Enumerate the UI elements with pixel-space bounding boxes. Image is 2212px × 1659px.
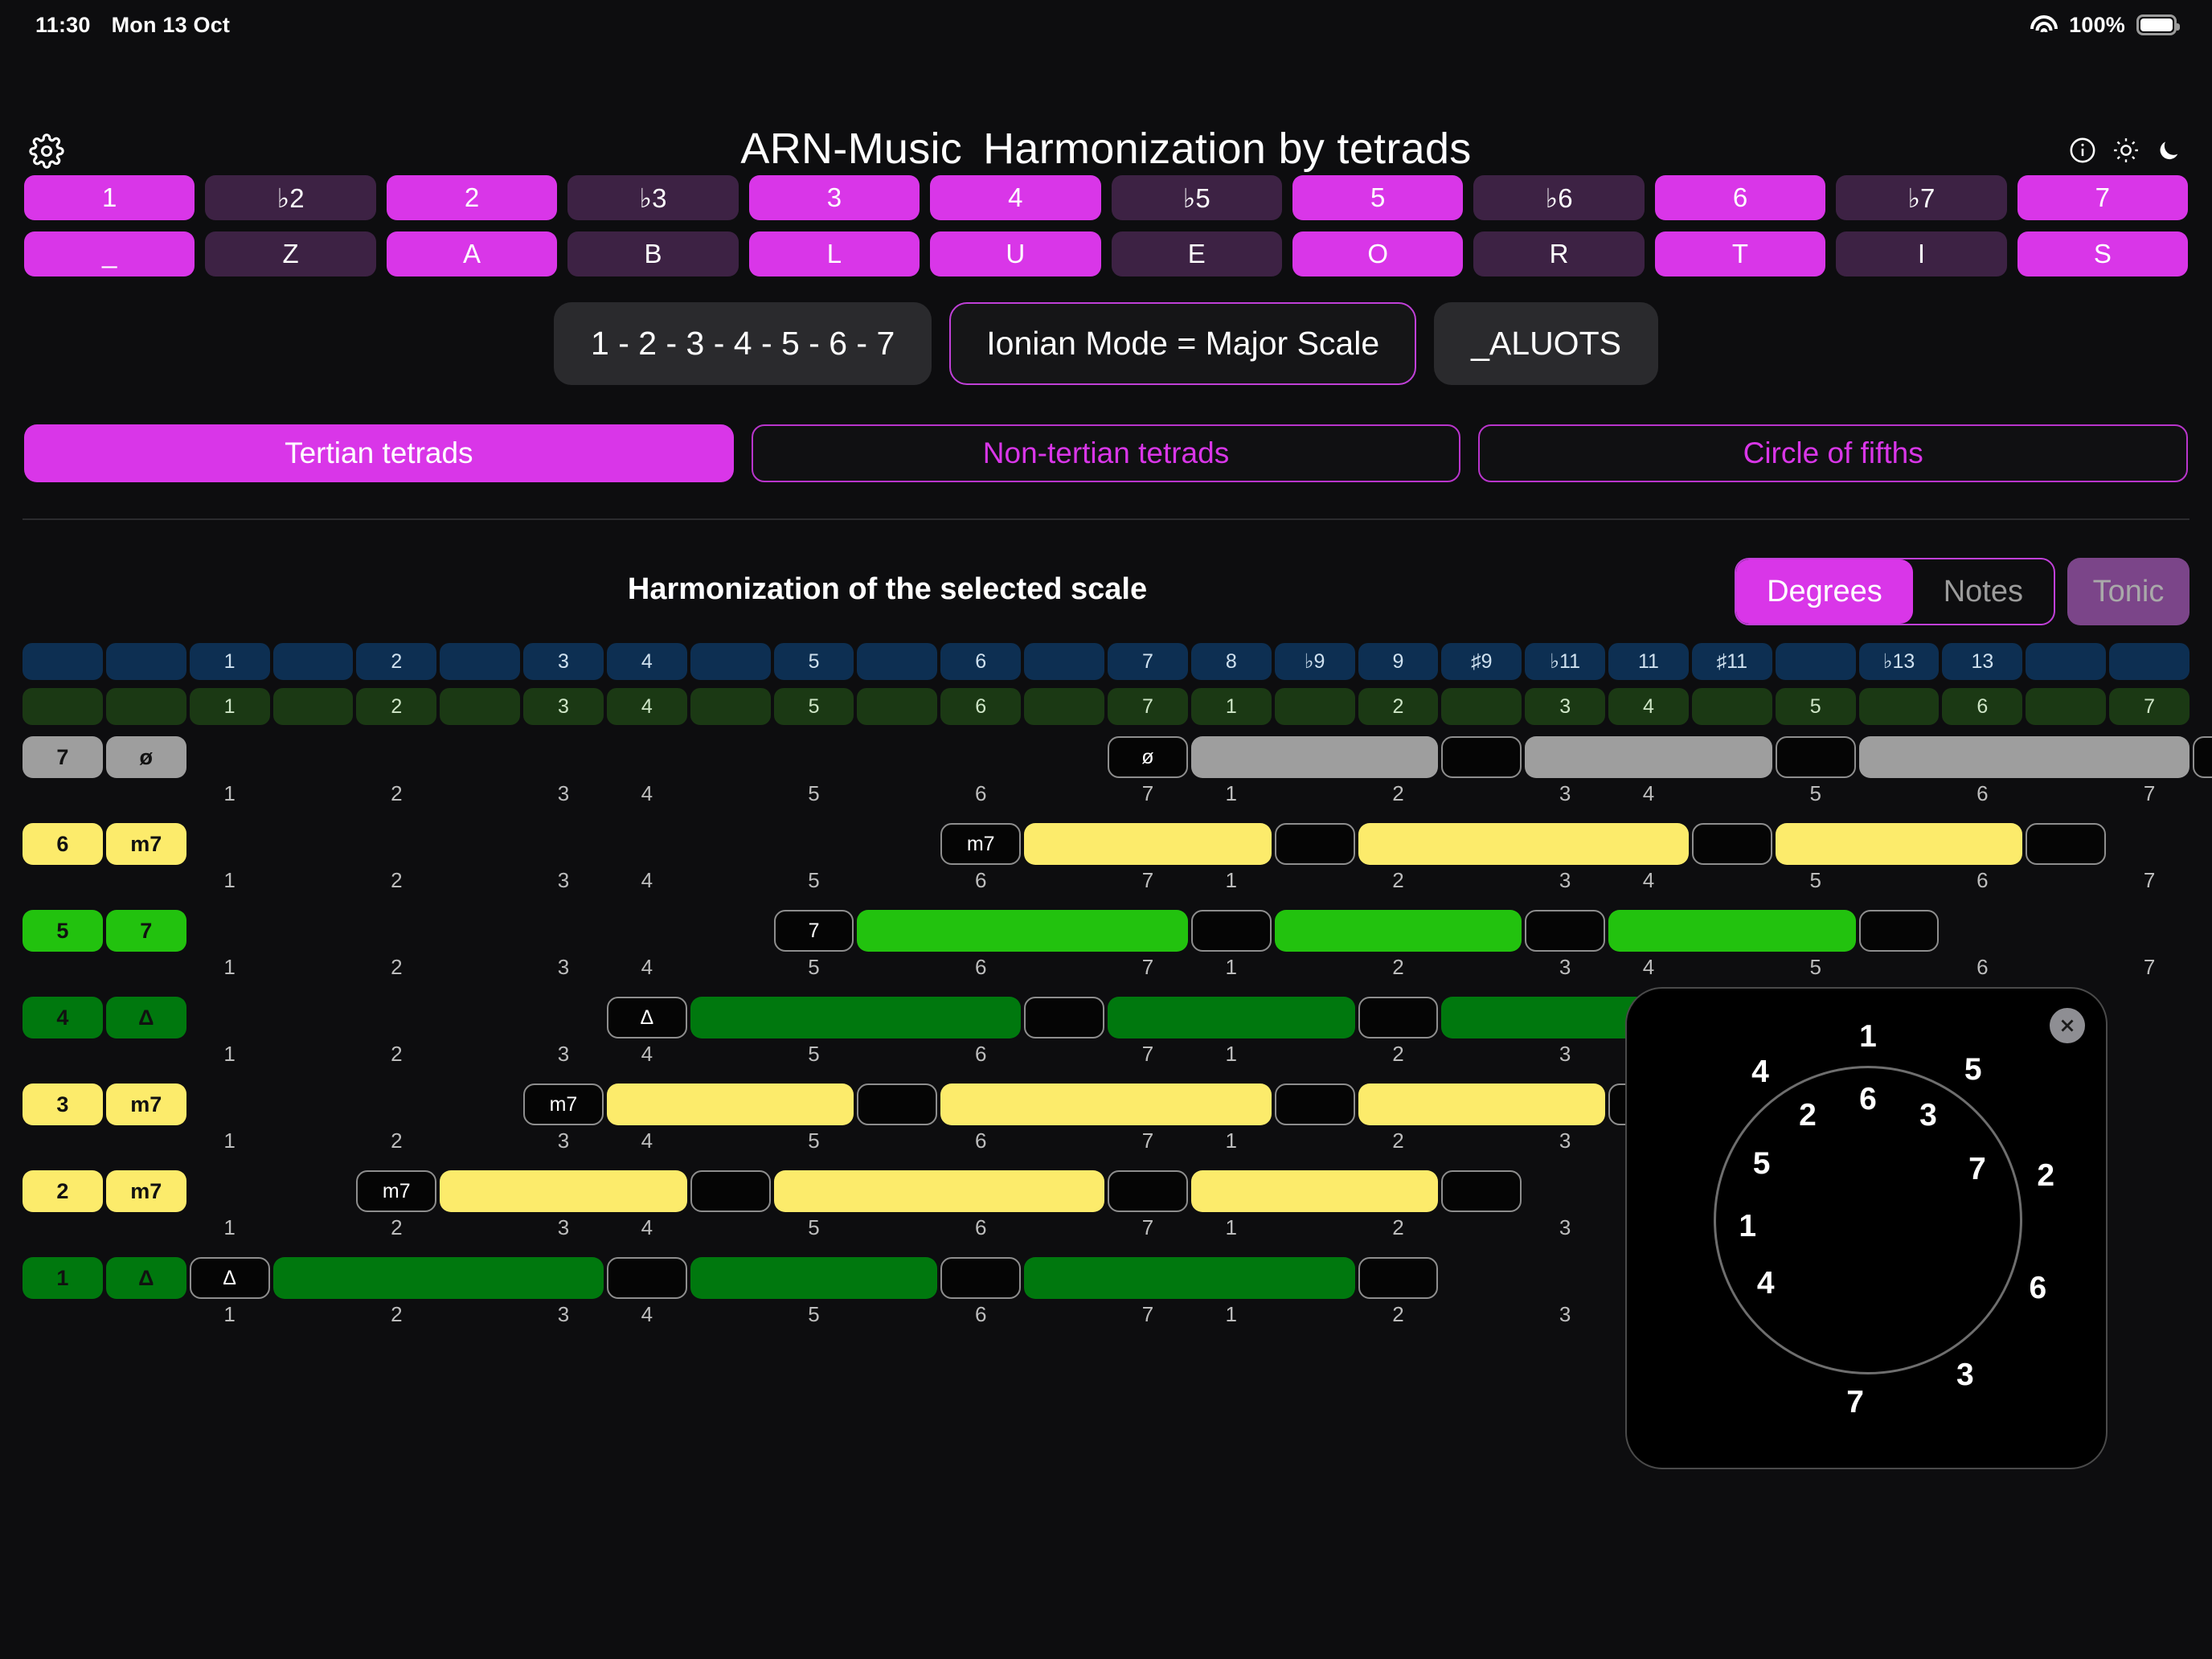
chord-number: 5 — [808, 955, 819, 980]
chord-number: 4 — [1643, 955, 1654, 980]
circle-inner-label[interactable]: 1 — [1739, 1209, 1756, 1244]
degree-pill-3[interactable]: ♭3 — [567, 175, 738, 220]
circle-inner-label[interactable]: 7 — [1968, 1152, 1986, 1187]
chord-interval-bar[interactable] — [1358, 1083, 1606, 1125]
chord-number: 4 — [641, 1042, 653, 1067]
display-mode-degrees[interactable]: Degrees — [1736, 559, 1913, 624]
chord-number: 2 — [391, 781, 402, 806]
letter-pill-label: _ — [102, 239, 117, 269]
chord-gap-cell[interactable] — [1108, 1170, 1188, 1212]
chord-number: 2 — [391, 1215, 402, 1240]
letter-pill-label: Z — [283, 239, 299, 269]
display-mode-segmented-control: DegreesNotes — [1735, 558, 2055, 625]
chord-number: 1 — [1226, 1215, 1237, 1240]
chord-root-cell[interactable]: m7 — [940, 823, 1021, 865]
chord-root-cell[interactable]: Δ — [607, 997, 687, 1038]
status-bar: 11:30 Mon 13 Oct 100% — [0, 0, 2212, 50]
chord-interval-bar[interactable] — [1108, 997, 1355, 1038]
chord-gap-cell[interactable] — [1692, 823, 1772, 865]
chord-number: 2 — [1392, 1302, 1403, 1327]
ruler-cell — [1692, 688, 1772, 725]
ruler-cell — [690, 688, 771, 725]
chord-gap-cell[interactable] — [1275, 823, 1355, 865]
moon-icon[interactable] — [2156, 137, 2181, 167]
mode-button-2[interactable]: _ALUOTS — [1434, 302, 1658, 385]
chord-gap-cell[interactable] — [2026, 823, 2106, 865]
ruler-cell — [23, 643, 103, 680]
chord-number: 3 — [1559, 955, 1571, 980]
degree-pill-10[interactable]: ♭7 — [1836, 175, 2006, 220]
chord-number: 4 — [1643, 781, 1654, 806]
letter-pill-10[interactable]: I — [1836, 231, 2006, 276]
chord-interval-bar[interactable] — [690, 997, 1021, 1038]
ruler-cell — [857, 643, 937, 680]
chord-gap-cell[interactable] — [690, 1170, 771, 1212]
ruler-cell: 7 — [2109, 688, 2189, 725]
chord-number: 7 — [1142, 1129, 1153, 1153]
chord-quality-chip[interactable]: ø — [106, 736, 186, 778]
circle-inner-label[interactable]: 2 — [1799, 1098, 1817, 1133]
ruler-cell — [1024, 688, 1104, 725]
chord-interval-bar[interactable] — [1275, 910, 1522, 952]
degree-pill-0[interactable]: 1 — [24, 175, 195, 220]
chord-number: 3 — [558, 1215, 569, 1240]
header-icons — [2069, 137, 2181, 168]
battery-percent: 100% — [2069, 13, 2125, 38]
chord-number: 3 — [1559, 1215, 1571, 1240]
chord-gap-cell[interactable] — [2193, 736, 2212, 778]
clock: 11:30 — [35, 13, 91, 38]
chord-number: 6 — [975, 1302, 986, 1327]
chord-number: 4 — [641, 781, 653, 806]
ruler-cell: ♯11 — [1692, 643, 1772, 680]
chord-quality-chip[interactable]: m7 — [106, 823, 186, 865]
chord-number: 1 — [1226, 868, 1237, 893]
chord-degree-chip[interactable]: 6 — [23, 823, 103, 865]
ruler-cell: 3 — [1525, 688, 1605, 725]
chord-gap-cell[interactable] — [1776, 736, 1856, 778]
chord-interval-bar[interactable] — [1608, 910, 1856, 952]
status-bar-left: 11:30 Mon 13 Oct — [35, 13, 230, 38]
chord-gap-cell[interactable] — [1441, 736, 1522, 778]
ruler-cell: 7 — [1108, 688, 1188, 725]
app-root: 11:30 Mon 13 Oct 100% ARN-MusicHarmoniza… — [0, 0, 2212, 1659]
chord-root-cell[interactable]: m7 — [356, 1170, 436, 1212]
chord-quality-chip[interactable]: 7 — [106, 910, 186, 952]
tetrad-tab-2[interactable]: Circle of fifths — [1478, 424, 2188, 482]
degree-pill-11[interactable]: 7 — [2017, 175, 2188, 220]
chord-interval-bar[interactable] — [940, 1083, 1271, 1125]
date: Mon 13 Oct — [112, 13, 231, 38]
chord-degree-chip[interactable]: 4 — [23, 997, 103, 1038]
letter-pill-label: R — [1550, 239, 1569, 269]
chord-number: 1 — [223, 781, 235, 806]
chord-number: 3 — [558, 868, 569, 893]
chord-number: 3 — [1559, 1129, 1571, 1153]
ruler-cell — [1776, 643, 1856, 680]
degree-pill-label: ♭5 — [1183, 182, 1210, 214]
ruler-cell: 3 — [523, 688, 604, 725]
page-title: ARN-MusicHarmonization by tetrads — [0, 124, 2212, 174]
circle-outer-label[interactable]: 4 — [1751, 1055, 1769, 1090]
chord-interval-bar[interactable] — [1859, 736, 2189, 778]
chord-quality-chip[interactable]: m7 — [106, 1170, 186, 1212]
ruler-cell: 2 — [1358, 688, 1439, 725]
chord-row: 6m7m7 — [23, 823, 2189, 865]
mode-selector: 1 - 2 - 3 - 4 - 5 - 6 - 7Ionian Mode = M… — [0, 302, 2212, 385]
chord-interval-bar[interactable] — [440, 1170, 687, 1212]
ruler-cell — [23, 688, 103, 725]
circle-inner-label[interactable]: 3 — [1919, 1098, 1937, 1133]
degree-pill-7[interactable]: 5 — [1292, 175, 1463, 220]
ruler-cell: ♭13 — [1859, 643, 1940, 680]
chord-number: 2 — [1392, 781, 1403, 806]
chord-number: 6 — [1976, 955, 1988, 980]
degree-pill-4[interactable]: 3 — [749, 175, 920, 220]
info-circle-icon[interactable] — [2069, 137, 2096, 168]
letter-pill-label: O — [1367, 239, 1388, 269]
ruler-cell: 3 — [523, 643, 604, 680]
chord-number: 3 — [558, 1302, 569, 1327]
chord-number: 2 — [1392, 868, 1403, 893]
ruler-cell — [857, 688, 937, 725]
chord-number: 6 — [1976, 868, 1988, 893]
chord-number: 5 — [808, 868, 819, 893]
ruler-cell: 1 — [1191, 688, 1272, 725]
chord-interval-bar[interactable] — [1024, 1257, 1354, 1299]
degree-pill-label: ♭6 — [1546, 182, 1573, 214]
degree-pill-label: 1 — [102, 182, 117, 213]
chord-number: 5 — [1809, 868, 1821, 893]
letter-pill-2[interactable]: A — [387, 231, 557, 276]
circle-inner-label[interactable]: 6 — [1859, 1082, 1877, 1117]
chord-number: 6 — [975, 781, 986, 806]
scale-degree-ruler: 12345671234567 — [23, 688, 2189, 725]
ruler-cell — [106, 643, 186, 680]
chord-number: 7 — [2144, 955, 2155, 980]
ruler-cell: 5 — [774, 643, 854, 680]
ruler-cell: 4 — [607, 643, 687, 680]
tetrad-tab-0[interactable]: Tertian tetrads — [24, 424, 734, 482]
ruler-cell: 5 — [1776, 688, 1856, 725]
chord-number: 3 — [1559, 781, 1571, 806]
ruler-cell: 1 — [190, 643, 270, 680]
chord-gap-cell[interactable] — [1525, 910, 1605, 952]
chord-number: 5 — [808, 1302, 819, 1327]
chord-number: 1 — [223, 955, 235, 980]
letter-pill-3[interactable]: B — [567, 231, 738, 276]
chord-interval-bar[interactable] — [273, 1257, 604, 1299]
chord-gap-cell[interactable] — [1191, 910, 1272, 952]
ruler-cell: 6 — [940, 643, 1021, 680]
chord-interval-bar[interactable] — [1191, 1170, 1439, 1212]
degree-pill-9[interactable]: 6 — [1655, 175, 1825, 220]
ruler-cell — [106, 688, 186, 725]
degree-pill-row: 1♭22♭334♭55♭66♭77 — [24, 175, 2188, 220]
ruler-cell: 8 — [1191, 643, 1272, 680]
ruler-cell: 7 — [1108, 643, 1188, 680]
circle-of-fifths-popup: 15263746372514 — [1625, 987, 2108, 1469]
chord-gap-cell[interactable] — [1441, 1170, 1522, 1212]
letter-pill-label: U — [1006, 239, 1025, 269]
chord-number: 6 — [1976, 781, 1988, 806]
circle-outer-label[interactable]: 6 — [2030, 1271, 2047, 1306]
chord-number: 6 — [975, 1042, 986, 1067]
chord-number: 1 — [223, 868, 235, 893]
circle-outer-label[interactable]: 1 — [1859, 1019, 1877, 1055]
chord-quality-chip[interactable]: Δ — [106, 997, 186, 1038]
close-icon[interactable] — [2050, 1008, 2085, 1043]
ruler-cell — [440, 688, 520, 725]
ruler-cell: ♭9 — [1275, 643, 1355, 680]
chord-interval-bar[interactable] — [690, 1257, 938, 1299]
letter-pill-label: S — [2094, 239, 2112, 269]
status-bar-right: 100% — [2030, 13, 2177, 38]
chord-number: 3 — [1559, 1302, 1571, 1327]
ruler-cell — [2026, 688, 2106, 725]
chord-row: 577 — [23, 910, 2189, 952]
chord-degree-chip[interactable]: 1 — [23, 1257, 103, 1299]
ruler-cell: ♭11 — [1525, 643, 1605, 680]
chord-gap-cell[interactable] — [940, 1257, 1021, 1299]
ruler-cell: 1 — [190, 688, 270, 725]
degree-pill-label: ♭7 — [1907, 182, 1935, 214]
mode-button-0[interactable]: 1 - 2 - 3 - 4 - 5 - 6 - 7 — [554, 302, 932, 385]
app-brand: ARN-Music — [740, 125, 962, 173]
chord-number: 5 — [1809, 781, 1821, 806]
chord-gap-cell[interactable] — [1358, 1257, 1439, 1299]
chord-number: 2 — [391, 1129, 402, 1153]
chord-number: 5 — [1809, 955, 1821, 980]
chord-degree-chip[interactable]: 3 — [23, 1083, 103, 1125]
chord-number: 1 — [1226, 1302, 1237, 1327]
ruler-cell — [273, 688, 354, 725]
tetrad-tab-1[interactable]: Non-tertian tetrads — [752, 424, 1461, 482]
chord-number: 7 — [1142, 1215, 1153, 1240]
degree-pill-label: 4 — [1008, 182, 1022, 213]
chord-number: 4 — [641, 868, 653, 893]
ruler-cell: 5 — [774, 688, 854, 725]
degree-pill-label: ♭2 — [277, 182, 305, 214]
chord-gap-cell[interactable] — [1275, 1083, 1355, 1125]
degree-pill-label: 5 — [1370, 182, 1385, 213]
chord-number: 4 — [641, 1215, 653, 1240]
chord-number: 1 — [223, 1215, 235, 1240]
degree-pill-5[interactable]: 4 — [930, 175, 1100, 220]
letter-pill-4[interactable]: L — [749, 231, 920, 276]
chord-number: 5 — [808, 1042, 819, 1067]
chord-number: 5 — [808, 1215, 819, 1240]
ruler-cell: 4 — [1608, 688, 1689, 725]
letter-pill-6[interactable]: E — [1112, 231, 1282, 276]
degree-pill-label: 7 — [2095, 182, 2110, 213]
tonic-button[interactable]: Tonic — [2067, 558, 2189, 625]
letter-pill-label: T — [1732, 239, 1748, 269]
chord-degree-chip[interactable]: 7 — [23, 736, 103, 778]
letter-pill-1[interactable]: Z — [205, 231, 375, 276]
letter-pill-11[interactable]: S — [2017, 231, 2188, 276]
chord-root-cell[interactable]: 7 — [774, 910, 854, 952]
chord-number-row: 12345671234567 — [23, 865, 2189, 899]
ruler-cell — [1859, 688, 1940, 725]
degree-pill-label: 3 — [827, 182, 842, 213]
degree-pill-label: 2 — [465, 182, 479, 213]
letter-pill-label: B — [644, 239, 662, 269]
chord-number: 2 — [1392, 1042, 1403, 1067]
chord-number: 2 — [391, 1042, 402, 1067]
letter-pill-row: _ZABLUEORTIS — [24, 231, 2188, 276]
chord-number: 7 — [1142, 955, 1153, 980]
display-mode-notes[interactable]: Notes — [1913, 559, 2054, 624]
extended-degree-ruler: 12345678♭99♯9♭1111♯11♭1313 — [23, 643, 2189, 680]
chord-number: 3 — [1559, 868, 1571, 893]
ruler-cell: ♯9 — [1441, 643, 1522, 680]
letter-pill-0[interactable]: _ — [24, 231, 195, 276]
chord-number: 6 — [975, 955, 986, 980]
chord-number: 3 — [558, 955, 569, 980]
chord-number: 1 — [1226, 955, 1237, 980]
chord-number: 2 — [1392, 1129, 1403, 1153]
degree-pill-1[interactable]: ♭2 — [205, 175, 375, 220]
chord-number: 7 — [1142, 868, 1153, 893]
chord-number: 1 — [1226, 1129, 1237, 1153]
letter-pill-label: I — [1918, 239, 1925, 269]
chord-number: 1 — [223, 1129, 235, 1153]
sun-icon[interactable] — [2112, 137, 2140, 168]
chord-number-row: 12345671234567 — [23, 778, 2189, 812]
chord-interval-bar[interactable] — [857, 910, 1187, 952]
chord-number: 2 — [1392, 1215, 1403, 1240]
degree-pill-label: ♭3 — [640, 182, 667, 214]
chord-root-cell[interactable]: m7 — [523, 1083, 604, 1125]
ruler-cell — [1024, 643, 1104, 680]
chord-gap-cell[interactable] — [1859, 910, 1940, 952]
chord-number: 1 — [1226, 781, 1237, 806]
letter-pill-label: L — [827, 239, 842, 269]
chord-number: 3 — [1559, 1042, 1571, 1067]
chord-number: 4 — [641, 1129, 653, 1153]
circle-inner-label[interactable]: 5 — [1753, 1146, 1771, 1182]
chord-number: 7 — [1142, 781, 1153, 806]
circle-outer-label[interactable]: 3 — [1956, 1358, 1974, 1393]
chord-root-cell[interactable]: ø — [1108, 736, 1188, 778]
chord-number: 2 — [1392, 955, 1403, 980]
ruler-cell — [2109, 643, 2189, 680]
chord-number: 3 — [558, 781, 569, 806]
ruler-spacer — [23, 680, 2189, 688]
chord-number: 7 — [2144, 781, 2155, 806]
chord-number-row: 12345671234567 — [23, 952, 2189, 985]
degree-pill-8[interactable]: ♭6 — [1473, 175, 1644, 220]
chord-degree-chip[interactable]: 5 — [23, 910, 103, 952]
ruler-cell — [690, 643, 771, 680]
chord-quality-chip[interactable]: m7 — [106, 1083, 186, 1125]
letter-pill-7[interactable]: O — [1292, 231, 1463, 276]
chord-interval-bar[interactable] — [1776, 823, 2023, 865]
ruler-cell — [1275, 688, 1355, 725]
page-title-text: Harmonization by tetrads — [983, 125, 1471, 173]
ruler-cell — [2026, 643, 2106, 680]
chord-number: 6 — [975, 1129, 986, 1153]
ruler-cell: 13 — [1942, 643, 2022, 680]
circle-inner-label[interactable]: 4 — [1757, 1266, 1775, 1301]
chord-number: 4 — [1643, 868, 1654, 893]
chord-number: 7 — [2144, 868, 2155, 893]
chord-interval-bar[interactable] — [1024, 823, 1272, 865]
circle-outer-label[interactable]: 2 — [2037, 1158, 2054, 1194]
chord-number: 6 — [975, 868, 986, 893]
chord-number: 2 — [391, 868, 402, 893]
mode-button-1[interactable]: Ionian Mode = Major Scale — [949, 302, 1416, 385]
chord-root-cell[interactable]: Δ — [190, 1257, 270, 1299]
chord-degree-chip[interactable]: 2 — [23, 1170, 103, 1212]
circle-outer-label[interactable]: 5 — [1964, 1052, 1982, 1088]
harmonization-title: Harmonization of the selected scale — [0, 572, 1775, 607]
chord-number: 1 — [1226, 1042, 1237, 1067]
wifi-icon — [2030, 14, 2058, 35]
ruler-cell — [273, 643, 354, 680]
degree-pill-label: 6 — [1733, 182, 1747, 213]
chord-gap-cell[interactable] — [607, 1257, 687, 1299]
ruler-cell: 9 — [1358, 643, 1439, 680]
letter-pill-label: A — [463, 239, 481, 269]
chord-interval-bar[interactable] — [607, 1083, 854, 1125]
chord-number: 3 — [558, 1042, 569, 1067]
letter-pill-5[interactable]: U — [930, 231, 1100, 276]
letter-pill-label: E — [1188, 239, 1206, 269]
ruler-cell: 4 — [607, 688, 687, 725]
degree-pill-2[interactable]: 2 — [387, 175, 557, 220]
chord-number: 4 — [641, 955, 653, 980]
chord-number: 4 — [641, 1302, 653, 1327]
ruler-cell — [1441, 688, 1522, 725]
app-header: ARN-MusicHarmonization by tetrads — [0, 50, 2212, 138]
chord-gap-cell[interactable] — [1024, 997, 1104, 1038]
chord-number: 5 — [808, 781, 819, 806]
chord-number: 7 — [1142, 1042, 1153, 1067]
chord-number: 3 — [558, 1129, 569, 1153]
chord-interval-bar[interactable] — [1358, 823, 1689, 865]
ruler-cell: 2 — [356, 688, 436, 725]
ruler-cell: 11 — [1608, 643, 1689, 680]
battery-full-icon — [2136, 14, 2177, 35]
chord-number: 5 — [808, 1129, 819, 1153]
chord-number: 7 — [1142, 1302, 1153, 1327]
tetrad-tab-row: Tertian tetradsNon-tertian tetradsCircle… — [24, 424, 2188, 482]
chord-gap-cell[interactable] — [1358, 997, 1439, 1038]
ruler-cell: 2 — [356, 643, 436, 680]
chord-interval-bar[interactable] — [1191, 736, 1439, 778]
ruler-cell — [440, 643, 520, 680]
ruler-cell: 6 — [940, 688, 1021, 725]
circle-outer-label[interactable]: 7 — [1846, 1385, 1864, 1420]
chord-number: 2 — [391, 1302, 402, 1327]
section-divider — [23, 518, 2189, 520]
degree-pill-6[interactable]: ♭5 — [1112, 175, 1282, 220]
letter-pill-8[interactable]: R — [1473, 231, 1644, 276]
chord-interval-bar[interactable] — [774, 1170, 1104, 1212]
chord-gap-cell[interactable] — [857, 1083, 937, 1125]
chord-number: 1 — [223, 1042, 235, 1067]
chord-quality-chip[interactable]: Δ — [106, 1257, 186, 1299]
letter-pill-9[interactable]: T — [1655, 231, 1825, 276]
chord-number: 2 — [391, 955, 402, 980]
ruler-cell: 6 — [1942, 688, 2022, 725]
chord-interval-bar[interactable] — [1525, 736, 1772, 778]
chord-number: 6 — [975, 1215, 986, 1240]
chord-row: 7øø — [23, 736, 2189, 778]
chord-number: 1 — [223, 1302, 235, 1327]
